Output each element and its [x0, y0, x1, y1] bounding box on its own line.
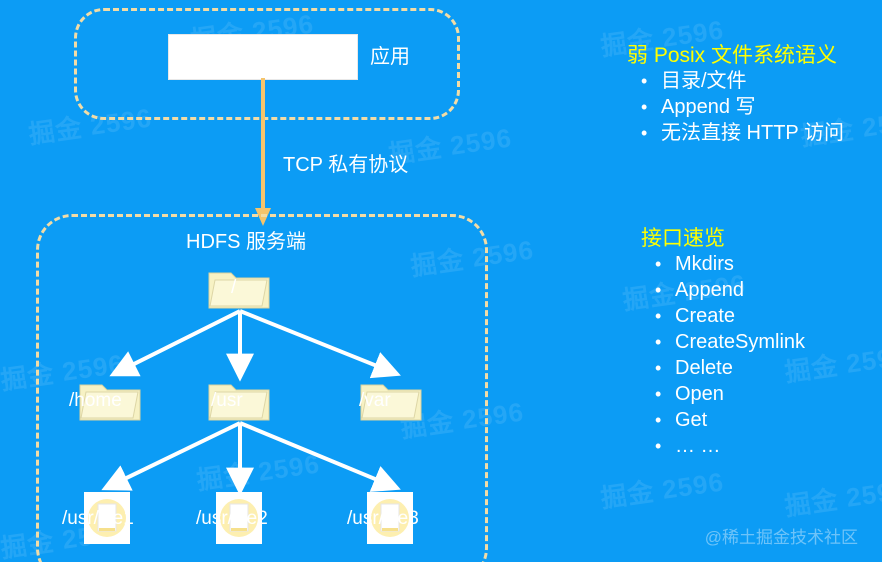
list-item-label: Delete: [675, 357, 733, 379]
list-item: • Mkdirs: [641, 251, 882, 277]
list-item: • … …: [641, 433, 882, 459]
application-box[interactable]: [168, 34, 358, 80]
api-list: • Mkdirs • Append • Create • CreateSymli…: [641, 251, 882, 459]
tcp-protocol-label: TCP 私有协议: [283, 155, 408, 175]
list-item-label: 目录/文件: [661, 70, 747, 92]
background-watermark: 掘金 2596: [782, 470, 882, 524]
list-item: • Delete: [641, 355, 882, 381]
file-node-file3[interactable]: /usr/file3: [367, 492, 413, 544]
folder-label: /home: [69, 390, 122, 412]
hdfs-server-title: HDFS 服务端: [186, 231, 306, 253]
bullet-icon: •: [641, 94, 649, 120]
list-item: • Append: [641, 277, 882, 303]
folder-node-var[interactable]: /var: [359, 378, 425, 424]
folder-node-root[interactable]: /: [207, 266, 273, 312]
file-label: /usr/file2: [196, 508, 268, 530]
file-node-file1[interactable]: /usr/file1: [84, 492, 130, 544]
folder-label: /: [231, 277, 236, 299]
list-item: • Get: [641, 407, 882, 433]
bullet-icon: •: [655, 329, 663, 355]
background-watermark: 掘金 2596: [598, 462, 726, 516]
bullet-icon: •: [655, 277, 663, 303]
list-item-label: Append: [675, 279, 744, 301]
list-item-label: Append 写: [661, 96, 756, 118]
list-item-label: 无法直接 HTTP 访问: [661, 122, 844, 144]
posix-semantics-list: • 目录/文件 • Append 写 • 无法直接 HTTP 访问: [627, 68, 882, 146]
file-node-file2[interactable]: /usr/file2: [216, 492, 262, 544]
list-item: • 无法直接 HTTP 访问: [627, 120, 882, 146]
list-item-label: Get: [675, 409, 707, 431]
bullet-icon: •: [655, 251, 663, 277]
bullet-icon: •: [655, 355, 663, 381]
posix-semantics-panel: 弱 Posix 文件系统语义 • 目录/文件 • Append 写 • 无法直接…: [627, 43, 882, 146]
folder-node-home[interactable]: /home: [78, 378, 144, 424]
list-item-label: Create: [675, 305, 735, 327]
bullet-icon: •: [655, 303, 663, 329]
folder-icon: [207, 266, 273, 312]
tcp-connector-arrow: [248, 78, 278, 228]
api-overview-panel: 接口速览 • Mkdirs • Append • Create • Create…: [641, 226, 882, 459]
panel-title: 弱 Posix 文件系统语义: [627, 43, 882, 68]
list-item-label: … …: [675, 435, 721, 457]
folder-label: /usr: [211, 390, 243, 412]
application-label: 应用: [370, 47, 410, 67]
bullet-icon: •: [655, 433, 663, 459]
folder-label: /var: [359, 390, 391, 412]
list-item: • 目录/文件: [627, 68, 882, 94]
list-item: • Create: [641, 303, 882, 329]
folder-node-usr[interactable]: /usr: [207, 378, 273, 424]
list-item: • Open: [641, 381, 882, 407]
brand-watermark: @稀土掘金技术社区: [705, 528, 858, 548]
file-label: /usr/file3: [347, 508, 419, 530]
bullet-icon: •: [641, 68, 649, 94]
panel-title: 接口速览: [641, 226, 882, 251]
list-item: • CreateSymlink: [641, 329, 882, 355]
file-label: /usr/file1: [62, 508, 134, 530]
list-item-label: Open: [675, 383, 724, 405]
bullet-icon: •: [655, 381, 663, 407]
list-item-label: Mkdirs: [675, 253, 734, 275]
bullet-icon: •: [655, 407, 663, 433]
diagram-canvas: 掘金 2596 掘金 2596 掘金 2596 掘金 2596 掘金 2596 …: [0, 0, 882, 562]
list-item-label: CreateSymlink: [675, 331, 805, 353]
bullet-icon: •: [641, 120, 649, 146]
list-item: • Append 写: [627, 94, 882, 120]
